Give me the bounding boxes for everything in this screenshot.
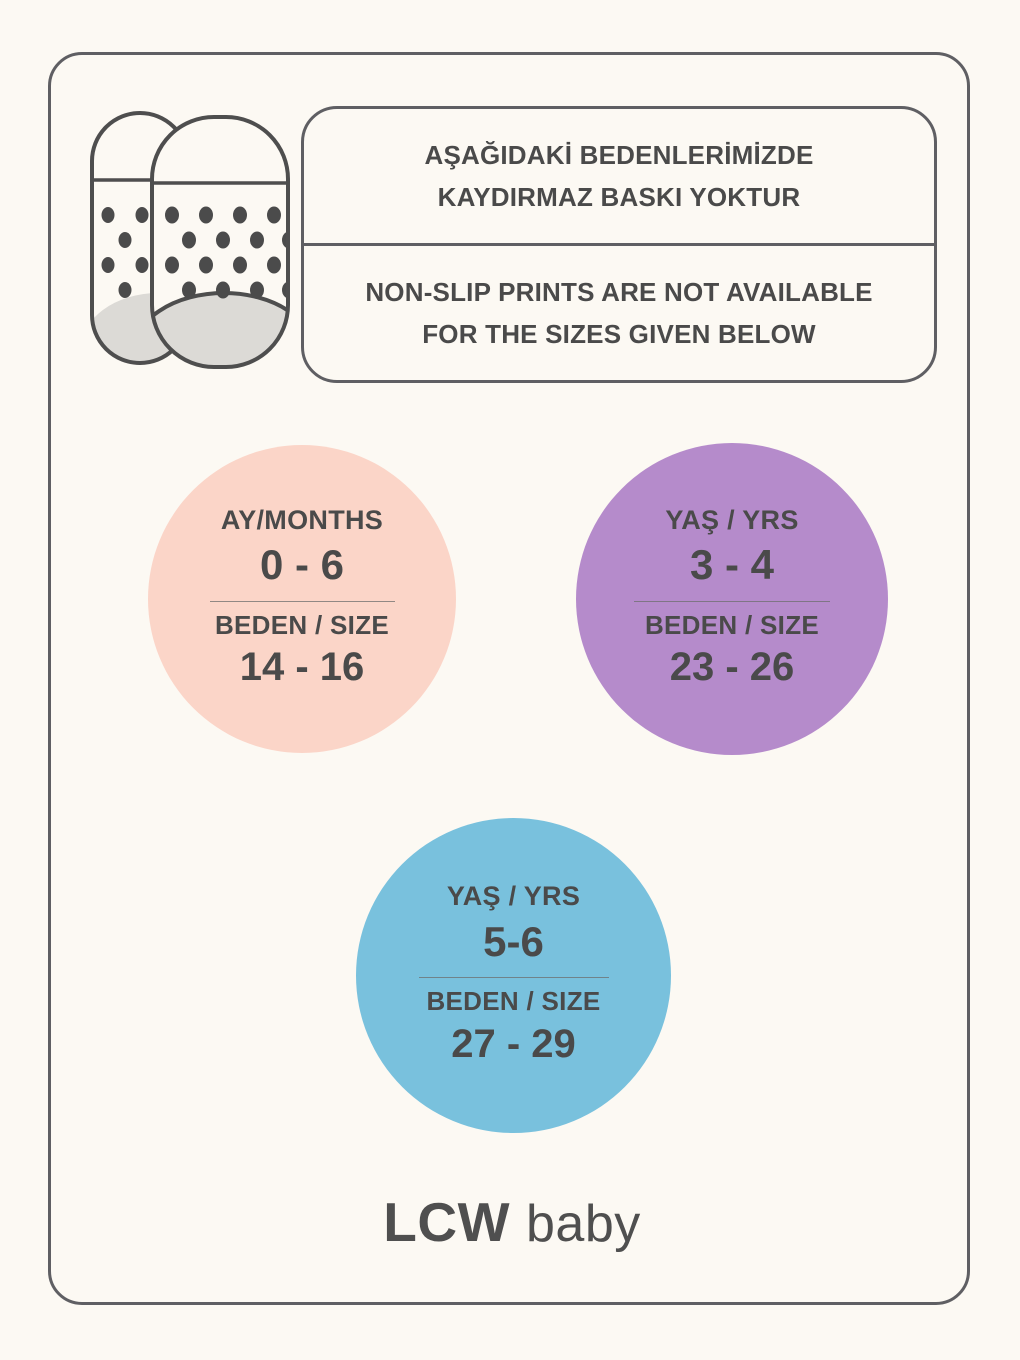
size-circle-yrs-3-4: YAŞ / YRS 3 - 4 BEDEN / SIZE 23 - 26 [576,443,888,755]
size-circle-months-0-6: AY/MONTHS 0 - 6 BEDEN / SIZE 14 - 16 [148,445,456,753]
size-circle-yrs-5-6: YAŞ / YRS 5-6 BEDEN / SIZE 27 - 29 [356,818,671,1133]
age-value: 0 - 6 [260,539,344,590]
age-value: 3 - 4 [690,539,774,590]
notice-english-line-1: NON-SLIP PRINTS ARE NOT AVAILABLE [365,271,872,313]
age-value: 5-6 [483,916,544,967]
size-value: 27 - 29 [451,1019,576,1069]
non-slip-notice-banner: AŞAĞIDAKİ BEDENLERİMİZDE KAYDIRMAZ BASKI… [301,106,937,383]
notice-turkish: AŞAĞIDAKİ BEDENLERİMİZDE KAYDIRMAZ BASKI… [304,109,934,243]
notice-turkish-line-1: AŞAĞIDAKİ BEDENLERİMİZDE [424,134,813,176]
notice-english: NON-SLIP PRINTS ARE NOT AVAILABLE FOR TH… [304,246,934,380]
size-label: BEDEN / SIZE [426,987,600,1016]
size-value: 14 - 16 [240,642,365,692]
age-label: YAŞ / YRS [665,506,798,536]
notice-turkish-line-2: KAYDIRMAZ BASKI YOKTUR [438,176,801,218]
brand-logo: LCWbaby [51,1195,973,1250]
circle-divider [210,601,395,602]
notice-english-line-2: FOR THE SIZES GIVEN BELOW [422,313,816,355]
pair-of-socks-icon [84,103,304,393]
age-label: AY/MONTHS [221,506,383,536]
circle-divider [634,601,830,602]
brand-logo-secondary: baby [526,1195,641,1253]
size-value: 23 - 26 [670,642,795,692]
circle-divider [419,977,609,978]
age-label: YAŞ / YRS [447,882,580,912]
size-label: BEDEN / SIZE [645,611,819,640]
size-label: BEDEN / SIZE [215,611,389,640]
size-guide-card: AŞAĞIDAKİ BEDENLERİMİZDE KAYDIRMAZ BASKI… [48,52,970,1305]
header-row: AŞAĞIDAKİ BEDENLERİMİZDE KAYDIRMAZ BASKI… [51,55,973,395]
brand-logo-primary: LCW [383,1191,510,1253]
